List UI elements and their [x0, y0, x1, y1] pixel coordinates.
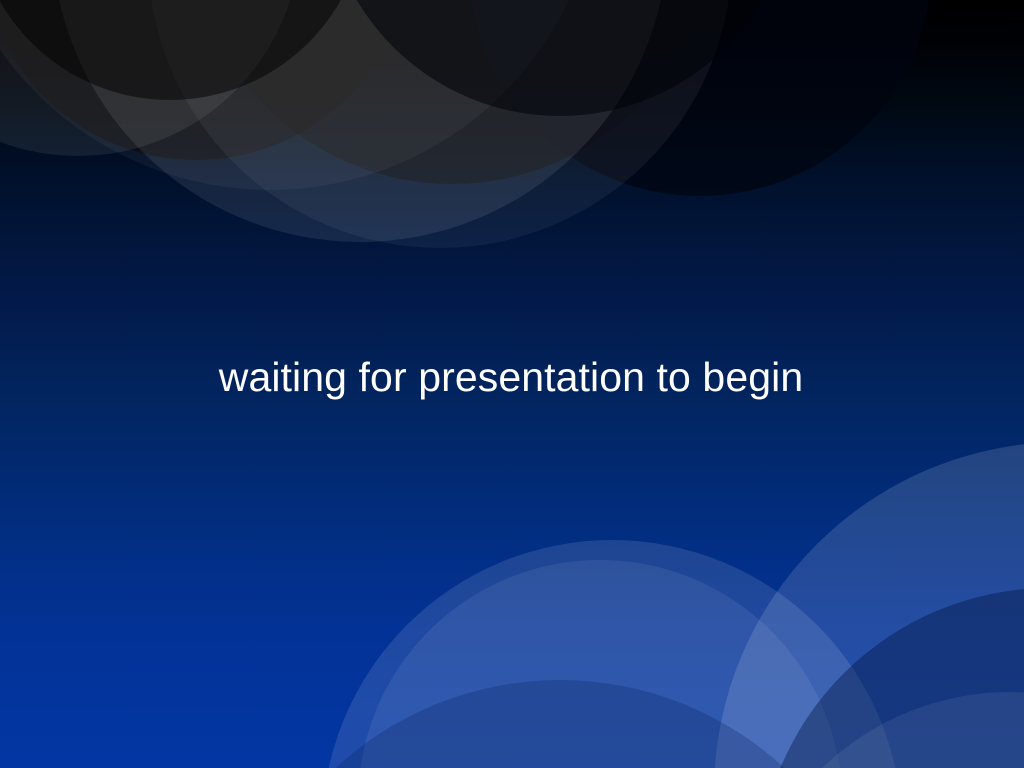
- decor-top-light-circle-large: [52, 0, 668, 242]
- decor-bottom-light-circle-left: [358, 560, 842, 768]
- decor-bottom-dark-circle-band: [758, 588, 1024, 768]
- decor-bottom-light-circle-right: [714, 442, 1024, 768]
- decor-bottom-light-circle-lower: [740, 692, 1024, 768]
- decor-bottom-dark-circle-left: [230, 680, 890, 768]
- decor-bottom-light-circle-center: [322, 540, 902, 768]
- decor-top-dark-inner-right: [324, 0, 796, 116]
- decor-top-light-circle-veil: [0, 0, 600, 190]
- decor-top-dark-circle-center: [190, 0, 714, 184]
- decor-top-light-circle-right: [148, 0, 732, 248]
- presentation-slide: waiting for presentation to begin: [0, 0, 1024, 768]
- decor-top-dark-circle-right: [468, 0, 932, 196]
- slide-title: waiting for presentation to begin: [219, 352, 804, 402]
- decor-top-light-circle-left: [0, 0, 300, 156]
- slide-text-block: waiting for presentation to begin: [0, 352, 1024, 402]
- decor-top-dark-circle-left: [0, 0, 410, 160]
- decor-top-dark-inner-left: [0, 0, 366, 100]
